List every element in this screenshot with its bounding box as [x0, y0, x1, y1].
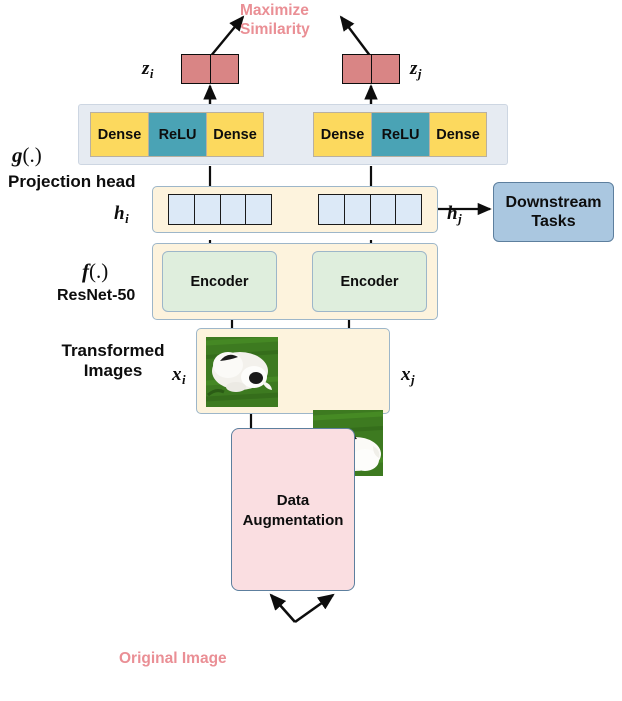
- z-j-cell: [343, 55, 372, 83]
- h-i-cell: [246, 195, 271, 224]
- h-j-cell: [319, 195, 345, 224]
- encoder-right: Encoder: [312, 251, 427, 312]
- h-i-label: hi: [114, 203, 129, 227]
- projection-head-left-branch: Dense ReLU Dense: [90, 112, 264, 157]
- simclr-diagram: Maximize Similarity zi zj Dense ReLU Den…: [0, 0, 622, 701]
- transformed-images-label: Transformed Images: [48, 341, 178, 381]
- z-i-subscript: i: [150, 66, 154, 81]
- h-i-symbol: h: [114, 203, 125, 224]
- data-augmentation-box[interactable]: Data Augmentation: [231, 428, 355, 591]
- x-i-symbol: x: [172, 364, 182, 385]
- z-j-cell: [372, 55, 400, 83]
- x-j-symbol: x: [401, 364, 411, 385]
- z-i-label: zi: [142, 58, 154, 82]
- h-j-label: hj: [447, 203, 462, 227]
- transformed-image-left: [206, 337, 278, 407]
- h-j-subscript: j: [458, 211, 462, 226]
- projection-head-right-branch: Dense ReLU Dense: [313, 112, 487, 157]
- x-j-label: xj: [401, 364, 415, 388]
- h-i-subscript: i: [125, 211, 129, 226]
- downstream-tasks-box[interactable]: Downstream Tasks: [493, 182, 614, 242]
- g-argument: (.): [23, 143, 42, 167]
- dense-layer: Dense: [206, 112, 264, 157]
- encoder-left: Encoder: [162, 251, 277, 312]
- h-i-vector: [168, 194, 272, 225]
- h-j-cell: [345, 195, 371, 224]
- h-i-cell: [195, 195, 221, 224]
- h-i-cell: [169, 195, 195, 224]
- h-j-vector: [318, 194, 422, 225]
- z-i-cell: [182, 55, 211, 83]
- z-i-vector: [181, 54, 239, 84]
- g-symbol: g: [12, 143, 23, 167]
- dense-layer: Dense: [90, 112, 148, 157]
- relu-layer: ReLU: [148, 112, 206, 157]
- x-i-subscript: i: [182, 372, 186, 387]
- x-j-subscript: j: [411, 372, 415, 387]
- projection-head-label: Projection head: [8, 172, 136, 192]
- f-argument: (.): [89, 259, 108, 283]
- h-j-symbol: h: [447, 203, 458, 224]
- x-i-label: xi: [172, 364, 186, 388]
- z-i-cell: [211, 55, 239, 83]
- z-j-label: zj: [410, 58, 422, 82]
- h-j-cell: [371, 195, 397, 224]
- dense-layer: Dense: [313, 112, 371, 157]
- projection-head-symbol: g(.): [12, 143, 42, 168]
- original-image-label: Original Image: [119, 650, 227, 669]
- h-i-cell: [221, 195, 247, 224]
- z-i-symbol: z: [142, 58, 149, 79]
- encoder-model-label: ResNet-50: [57, 287, 135, 306]
- maximize-similarity-label: Maximize Similarity: [240, 2, 372, 39]
- z-j-symbol: z: [410, 58, 417, 79]
- z-j-subscript: j: [418, 66, 422, 81]
- f-symbol: f: [82, 259, 89, 283]
- dog-crop-left-illustration: [206, 337, 278, 407]
- encoder-symbol: f(.): [82, 259, 108, 284]
- dense-layer: Dense: [429, 112, 487, 157]
- relu-layer: ReLU: [371, 112, 429, 157]
- h-j-cell: [396, 195, 421, 224]
- z-j-vector: [342, 54, 400, 84]
